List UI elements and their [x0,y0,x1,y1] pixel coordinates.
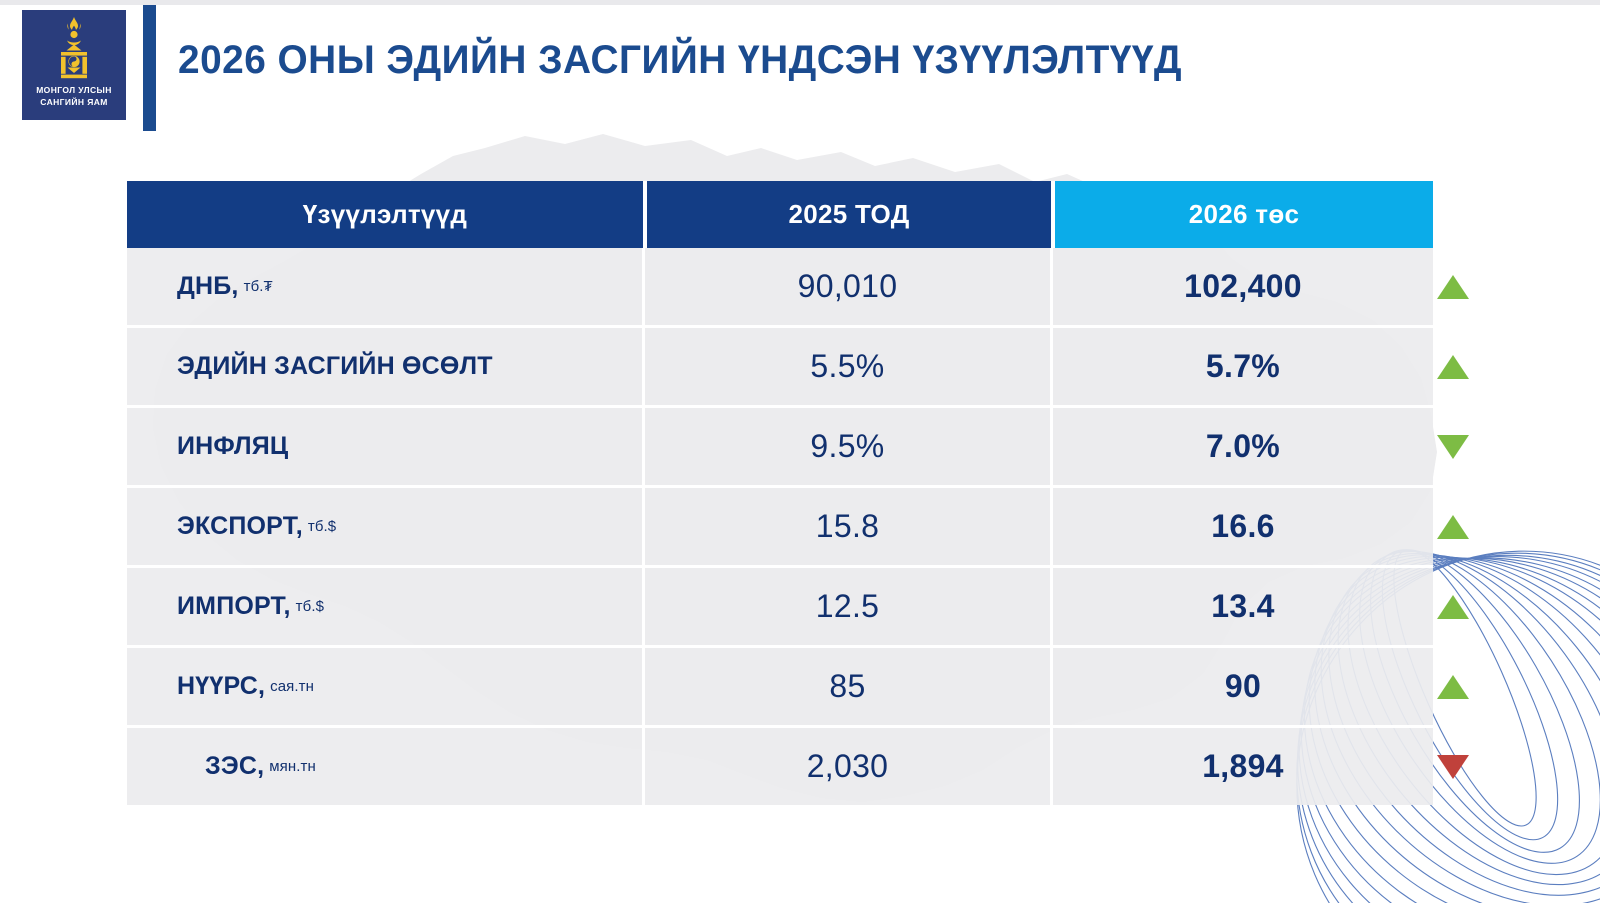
value-2025: 15.8 [816,508,879,545]
indicator-name: ИМПОРТ, [177,592,291,621]
table-row: ИНФЛЯЦ9.5%7.0% [127,408,1433,488]
indicator-unit: тб.₮ [244,278,273,295]
cell-value-2026: 5.7% [1053,328,1433,405]
indicator-name: НҮҮРС, [177,672,265,701]
cell-indicator-label: ЭДИЙН ЗАСГИЙН ӨСӨЛТ [127,328,645,405]
logo-text-line-1: МОНГОЛ УЛСЫН [36,85,112,96]
table-row: ЭКСПОРТ,тб.$15.816.6 [127,488,1433,568]
table-body: ДНБ,тб.₮90,010102,400ЭДИЙН ЗАСГИЙН ӨСӨЛТ… [127,248,1433,805]
cell-value-2025: 9.5% [645,408,1053,485]
indicator-unit: сая.тн [270,678,314,695]
trend-up-icon [1437,275,1469,299]
indicator-unit: тб.$ [296,598,324,615]
column-header-indicator: Үзүүлэлтүүд [127,181,643,248]
value-2025: 9.5% [810,428,884,465]
cell-value-2026: 102,400 [1053,248,1433,325]
value-2026: 5.7% [1206,348,1280,385]
trend-up-icon [1437,355,1469,379]
value-2025: 85 [829,668,865,705]
cell-value-2026: 1,894 [1053,728,1433,805]
indicator-unit: мян.тн [269,758,316,775]
trend-up-icon [1437,675,1469,699]
table-row: НҮҮРС,сая.тн8590 [127,648,1433,728]
cell-indicator-label: ИМПОРТ,тб.$ [127,568,645,645]
cell-value-2026: 7.0% [1053,408,1433,485]
value-2026: 102,400 [1184,268,1302,305]
cell-indicator-label: ЭКСПОРТ,тб.$ [127,488,645,565]
cell-indicator-label: ИНФЛЯЦ [127,408,645,485]
trend-down-icon [1437,755,1469,779]
indicator-name: ЭКСПОРТ, [177,512,303,541]
value-2026: 7.0% [1206,428,1280,465]
table-row: ИМПОРТ,тб.$12.513.4 [127,568,1433,648]
table-header-row: Үзүүлэлтүүд 2025 ТОД 2026 төс [127,181,1433,248]
table-row: ДНБ,тб.₮90,010102,400 [127,248,1433,328]
cell-value-2025: 85 [645,648,1053,725]
trend-up-icon [1437,515,1469,539]
cell-value-2025: 2,030 [645,728,1053,805]
cell-indicator-label: ДНБ,тб.₮ [127,248,645,325]
soyombo-emblem-icon [46,16,102,84]
value-2025: 90,010 [798,268,898,305]
cell-value-2026: 90 [1053,648,1433,725]
top-strip [0,0,1600,5]
value-2026: 90 [1225,668,1261,705]
cell-indicator-label: ЗЭС,мян.тн [127,728,645,805]
column-header-2026: 2026 төс [1055,181,1433,248]
table-row: ЭДИЙН ЗАСГИЙН ӨСӨЛТ5.5%5.7% [127,328,1433,408]
value-2025: 12.5 [816,588,879,625]
page-title: 2026 ОНЫ ЭДИЙН ЗАСГИЙН ҮНДСЭН ҮЗҮҮЛЭЛТҮҮ… [178,38,1182,83]
value-2026: 16.6 [1211,508,1274,545]
indicator-name: ДНБ, [177,272,239,301]
value-2025: 2,030 [807,748,889,785]
column-header-2025: 2025 ТОД [647,181,1051,248]
table-row: ЗЭС,мян.тн2,0301,894 [127,728,1433,805]
indicator-name: ЭДИЙН ЗАСГИЙН ӨСӨЛТ [177,352,493,381]
value-2025: 5.5% [810,348,884,385]
trend-down-icon [1437,435,1469,459]
cell-value-2025: 12.5 [645,568,1053,645]
cell-value-2025: 90,010 [645,248,1053,325]
value-2026: 1,894 [1202,748,1284,785]
cell-value-2026: 16.6 [1053,488,1433,565]
cell-value-2026: 13.4 [1053,568,1433,645]
indicator-name: ЗЭС, [205,752,264,781]
logo-text-line-2: САНГИЙН ЯАМ [40,97,107,108]
indicator-unit: тб.$ [308,518,336,535]
ministry-logo: МОНГОЛ УЛСЫН САНГИЙН ЯАМ [22,10,126,120]
title-accent-bar [143,5,156,131]
indicators-table: Үзүүлэлтүүд 2025 ТОД 2026 төс ДНБ,тб.₮90… [127,181,1433,805]
cell-value-2025: 5.5% [645,328,1053,405]
cell-indicator-label: НҮҮРС,сая.тн [127,648,645,725]
trend-up-icon [1437,595,1469,619]
value-2026: 13.4 [1211,588,1274,625]
cell-value-2025: 15.8 [645,488,1053,565]
indicator-name: ИНФЛЯЦ [177,432,288,461]
